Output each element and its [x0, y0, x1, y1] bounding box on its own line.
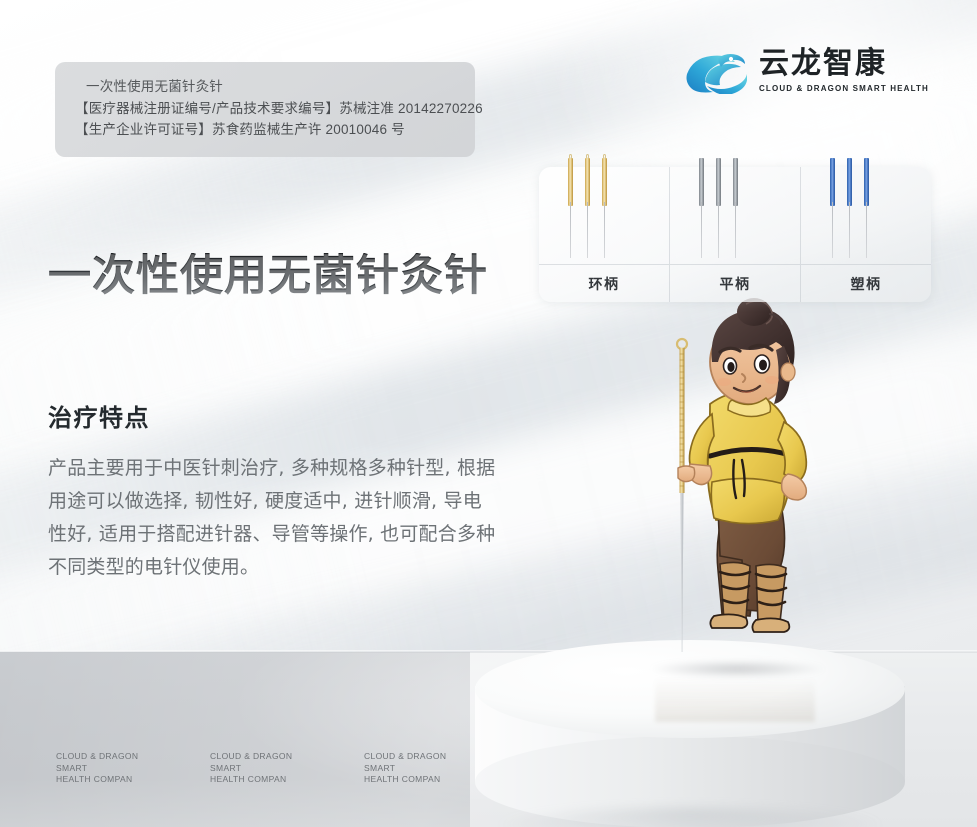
needle-card-ring-handle[interactable]: 环柄: [539, 167, 669, 302]
watermark-line: HEALTH COMPAN: [210, 774, 364, 786]
reg-device-number: 【医疗器械注册证编号/产品技术要求编号】苏械注准 20142270226: [75, 98, 455, 120]
needle-label-ring-handle: 环柄: [539, 264, 669, 302]
watermark-line: SMART: [364, 763, 446, 775]
watermark-line: SMART: [210, 763, 364, 775]
poster-stage: 一次性使用无菌针灸针 【医疗器械注册证编号/产品技术要求编号】苏械注准 2014…: [0, 0, 977, 827]
character-head: [710, 298, 795, 404]
needle-image-ring-handle: [539, 167, 669, 264]
watermark-3: CLOUD & DRAGON SMART HEALTH COMPAN: [364, 751, 446, 786]
watermark-1: CLOUD & DRAGON SMART HEALTH COMPAN: [56, 751, 210, 786]
page-title: 一次性使用无菌针灸针: [48, 253, 488, 300]
tcm-practitioner-character: [638, 296, 838, 676]
watermark-line: HEALTH COMPAN: [364, 774, 446, 786]
needle-card-plastic-handle[interactable]: 塑柄: [800, 167, 931, 302]
watermark-line: CLOUD & DRAGON: [56, 751, 210, 763]
registration-info-box: 一次性使用无菌针灸针 【医疗器械注册证编号/产品技术要求编号】苏械注准 2014…: [55, 62, 475, 157]
watermark-line: CLOUD & DRAGON: [210, 751, 364, 763]
watermark-line: SMART: [56, 763, 210, 775]
brand-name-en: CLOUD & DRAGON SMART HEALTH: [759, 84, 929, 93]
brand-logo: 云龙智康 CLOUD & DRAGON SMART HEALTH: [685, 48, 929, 94]
cloud-dragon-logo-icon: [685, 48, 747, 94]
needle-image-flat-handle: [670, 167, 800, 264]
watermark-line: HEALTH COMPAN: [56, 774, 210, 786]
watermark-2: CLOUD & DRAGON SMART HEALTH COMPAN: [210, 751, 364, 786]
brand-name-cn: 云龙智康: [759, 49, 929, 79]
needle-image-plastic-handle: [801, 167, 931, 264]
reg-license-number: 【生产企业许可证号】苏食药监械生产许 20010046 号: [75, 119, 455, 141]
character-reflection: [655, 668, 815, 722]
needle-card-flat-handle[interactable]: 平柄: [669, 167, 800, 302]
needle-type-panel: 环柄 平柄 塑柄: [539, 167, 931, 302]
footer-watermarks: CLOUD & DRAGON SMART HEALTH COMPAN CLOUD…: [56, 751, 476, 786]
section-heading-treatment-features: 治疗特点: [48, 398, 150, 433]
needle-label-plastic-handle: 塑柄: [801, 264, 931, 302]
giant-acupuncture-needle: [677, 339, 687, 652]
watermark-line: CLOUD & DRAGON: [364, 751, 446, 763]
body-description: 产品主要用于中医针刺治疗, 多种规格多种针型, 根据用途可以做选择, 韧性好, …: [48, 452, 496, 584]
reg-product-name: 一次性使用无菌针灸针: [75, 76, 455, 98]
needle-label-flat-handle: 平柄: [670, 264, 800, 302]
